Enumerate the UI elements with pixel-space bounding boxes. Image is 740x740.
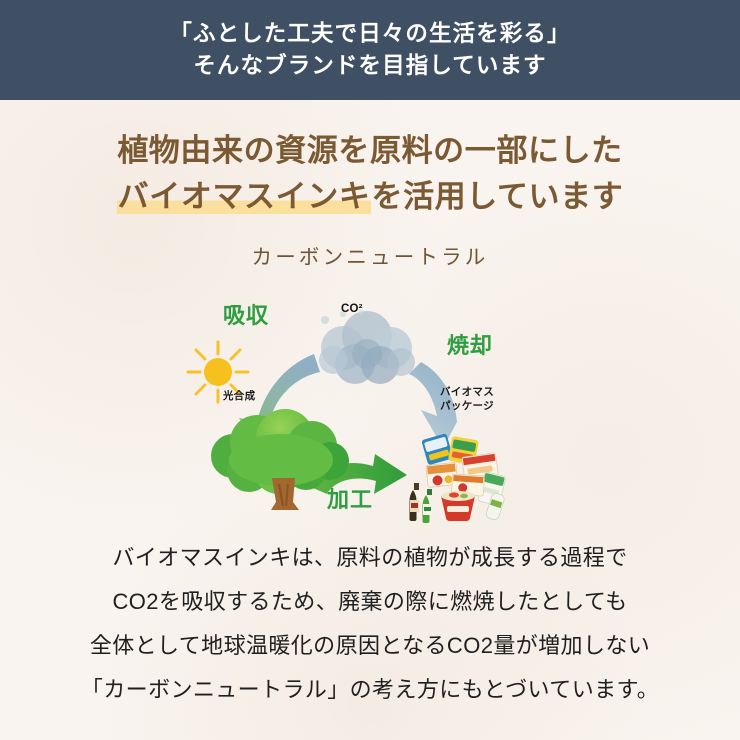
label-incinerate: 焼却 xyxy=(447,328,493,360)
label-biomass-package-line2: パッケージ xyxy=(440,400,494,414)
body-line-4: 「カーボンニュートラル」の考え方にもとづいています。 xyxy=(0,668,740,712)
biomass-packages-icon xyxy=(410,433,507,523)
label-biomass-package-line1: バイオマス xyxy=(440,386,494,400)
label-absorb: 吸収 xyxy=(223,298,269,330)
heading-line-1: 植物由来の資源を原料の一部にした xyxy=(0,128,740,174)
header-tagline-line2: そんなブランドを目指しています xyxy=(193,50,546,82)
label-process: 加工 xyxy=(327,482,373,514)
header-banner: 「ふとした工夫で日々の生活を彩る」 そんなブランドを目指しています xyxy=(0,0,740,100)
diagram-title: カーボンニュートラル xyxy=(175,240,565,270)
body-paragraph: バイオマスインキは、原料の植物が成長する過程で CO2を吸収するため、廃棄の際に… xyxy=(0,536,740,712)
body-line-3: 全体として地球温暖化の原因となるCO2量が増加しない xyxy=(0,624,740,668)
cup-noodle-bowl xyxy=(441,491,475,521)
main-heading: 植物由来の資源を原料の一部にした バイオマスインキを活用しています xyxy=(0,128,740,219)
heading-highlighted-term: バイオマスインキ xyxy=(117,179,372,214)
label-photosynthesis: 光合成 xyxy=(223,388,255,403)
infographic-page: 「ふとした工夫で日々の生活を彩る」 そんなブランドを目指しています 植物由来の資… xyxy=(0,0,740,740)
body-line-1: バイオマスインキは、原料の植物が成長する過程で xyxy=(0,536,740,580)
body-line-2: CO2を吸収するため、廃棄の際に燃焼したとしても xyxy=(0,580,740,624)
bottle-dark xyxy=(410,483,420,521)
heading-line-2: バイオマスインキを活用しています xyxy=(0,174,740,220)
label-biomass-package: バイオマス パッケージ xyxy=(440,386,494,414)
carbon-neutral-diagram: カーボンニュートラル xyxy=(175,240,565,525)
label-co2: CO² xyxy=(341,303,363,315)
heading-line-2-rest: を活用しています xyxy=(371,179,623,214)
bottle-green xyxy=(423,489,433,523)
co2-cloud-icon xyxy=(319,309,415,384)
header-tagline-line1: 「ふとした工夫で日々の生活を彩る」 xyxy=(169,18,570,50)
